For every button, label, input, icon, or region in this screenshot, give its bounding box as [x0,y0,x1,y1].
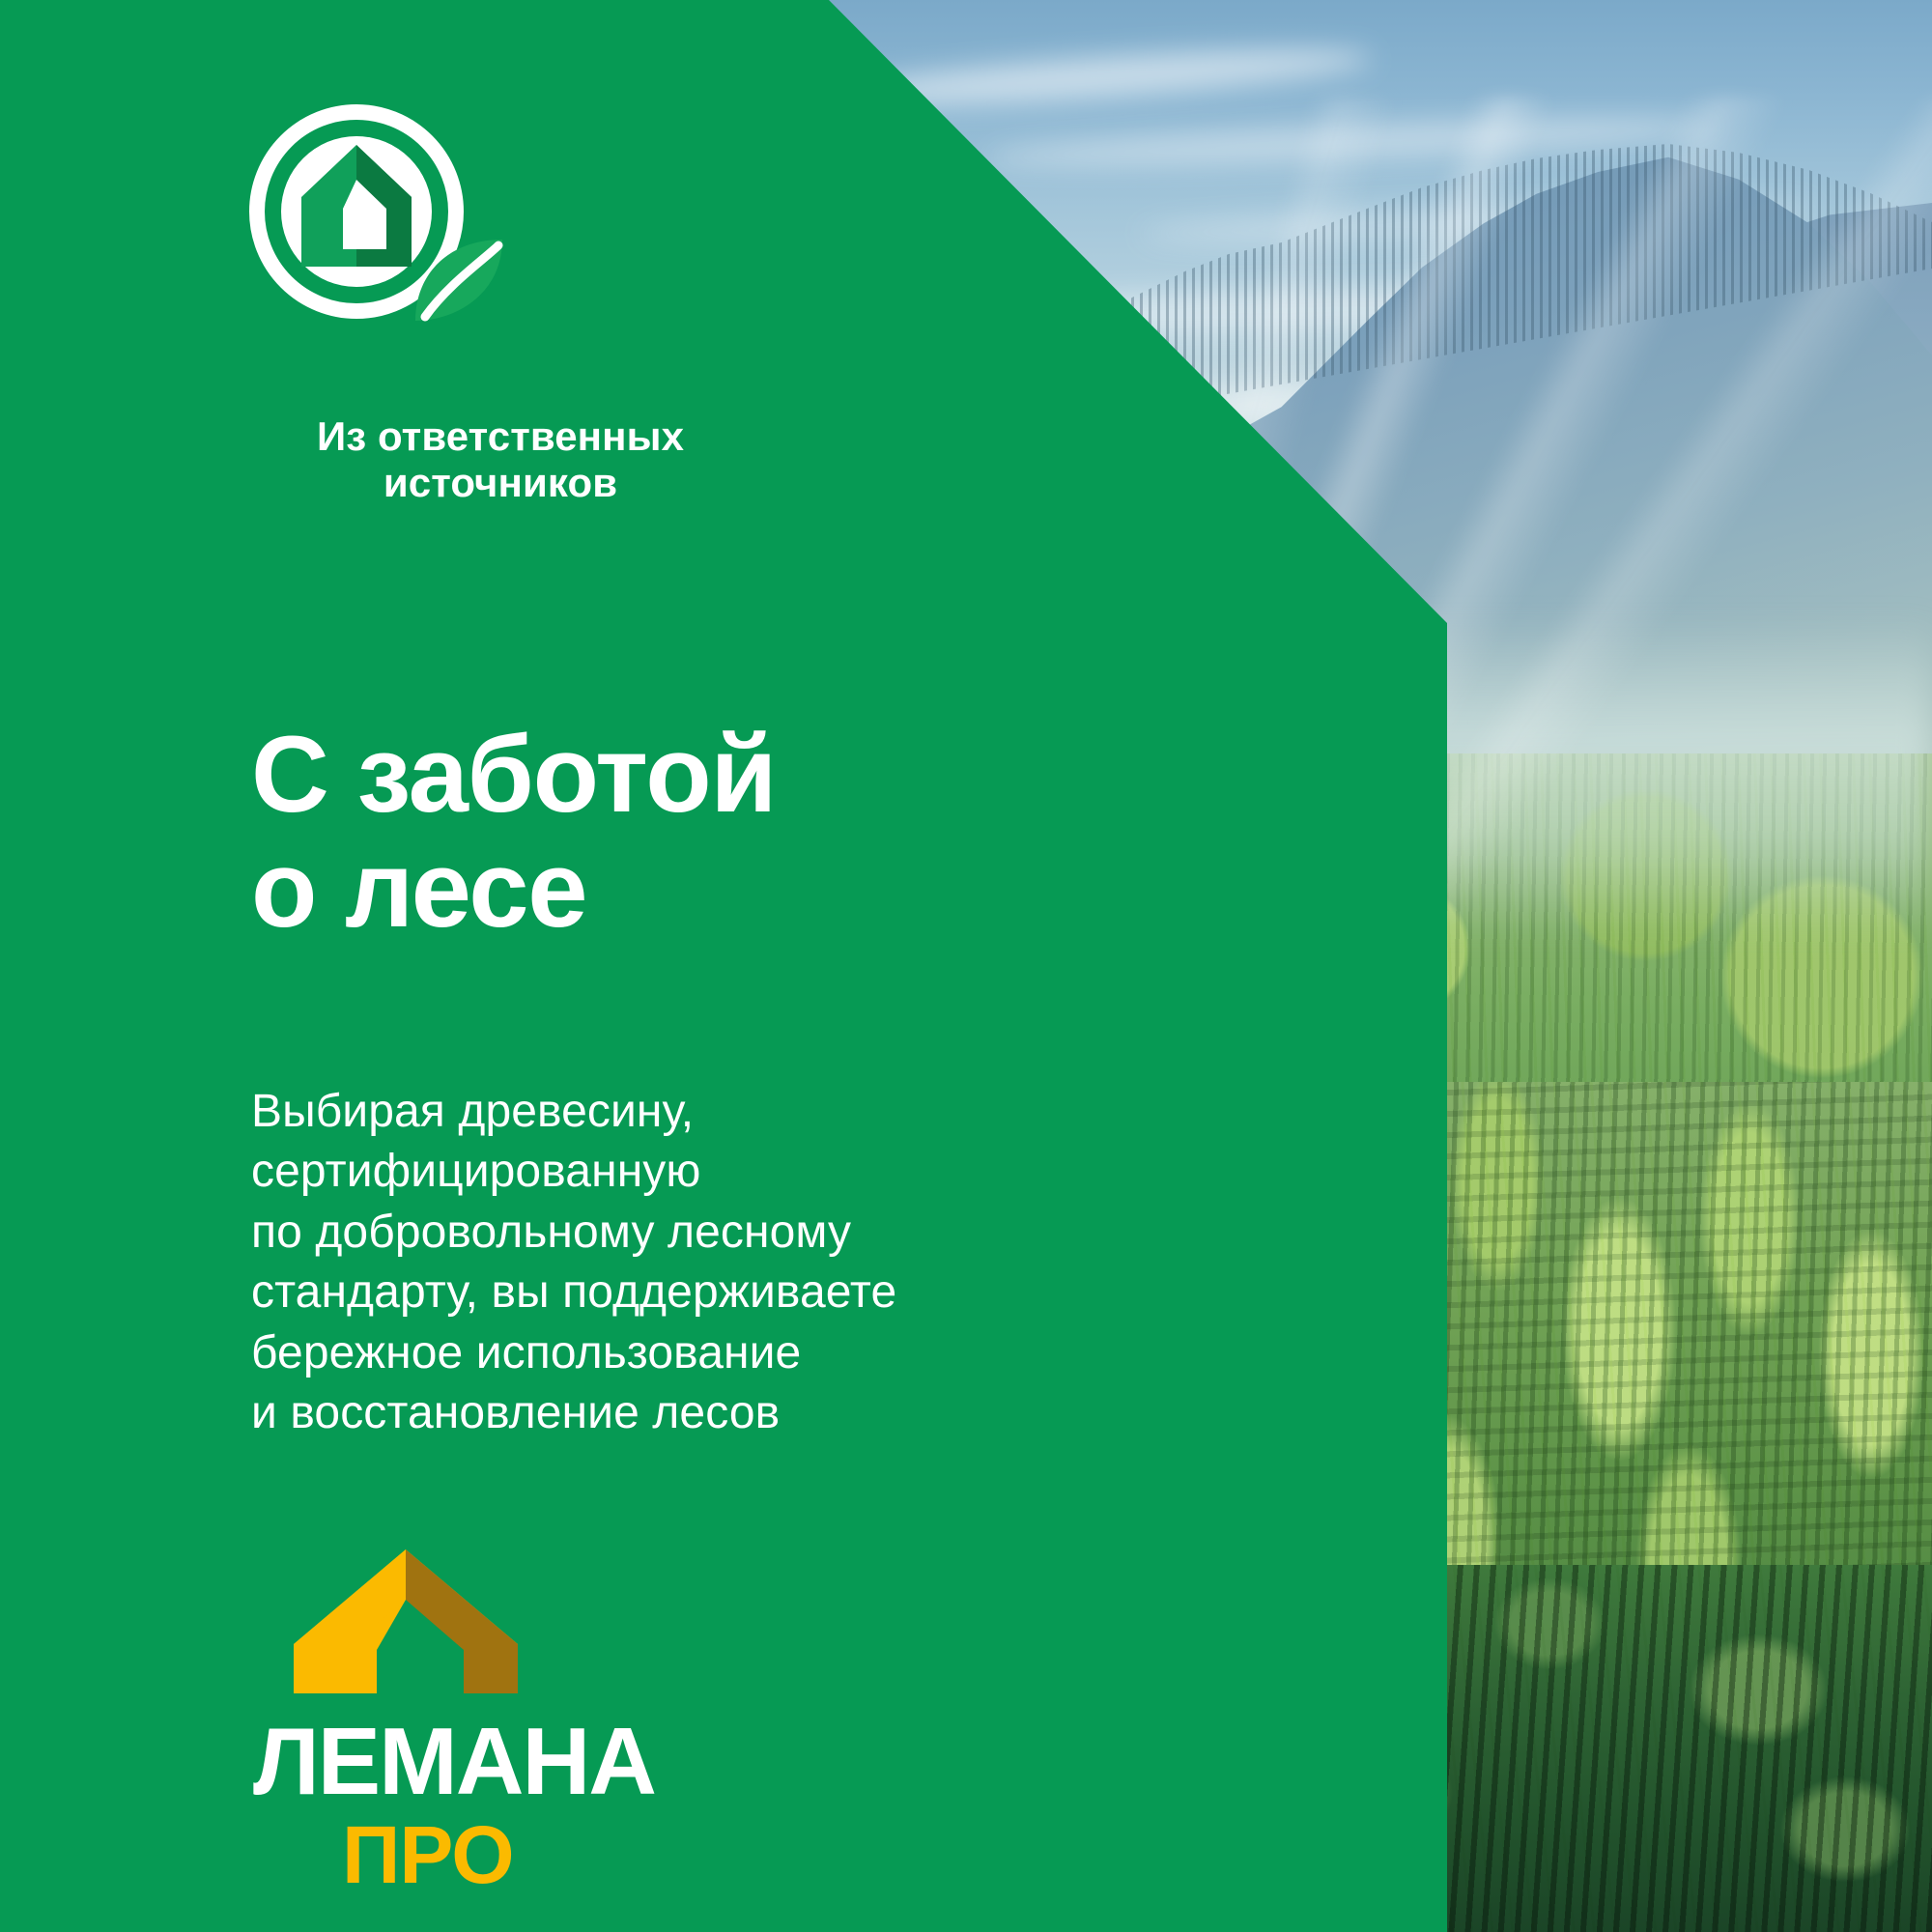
body-copy: Выбирая древесину, сертифицированную по … [251,1082,1024,1443]
lemana-house-icon [288,1544,524,1698]
page-title: С заботой о лесе [251,718,1082,947]
brand-lockup: ЛЕМАНА ПРО [253,1544,620,1895]
eco-badge-caption: Из ответственных источников [249,413,752,506]
responsible-sourcing-badge-icon [249,104,510,322]
brand-sub-name: ПРО [342,1814,620,1895]
brand-name: ЛЕМАНА [253,1714,620,1808]
promo-poster: Из ответственных источников С заботой о … [0,0,1932,1932]
